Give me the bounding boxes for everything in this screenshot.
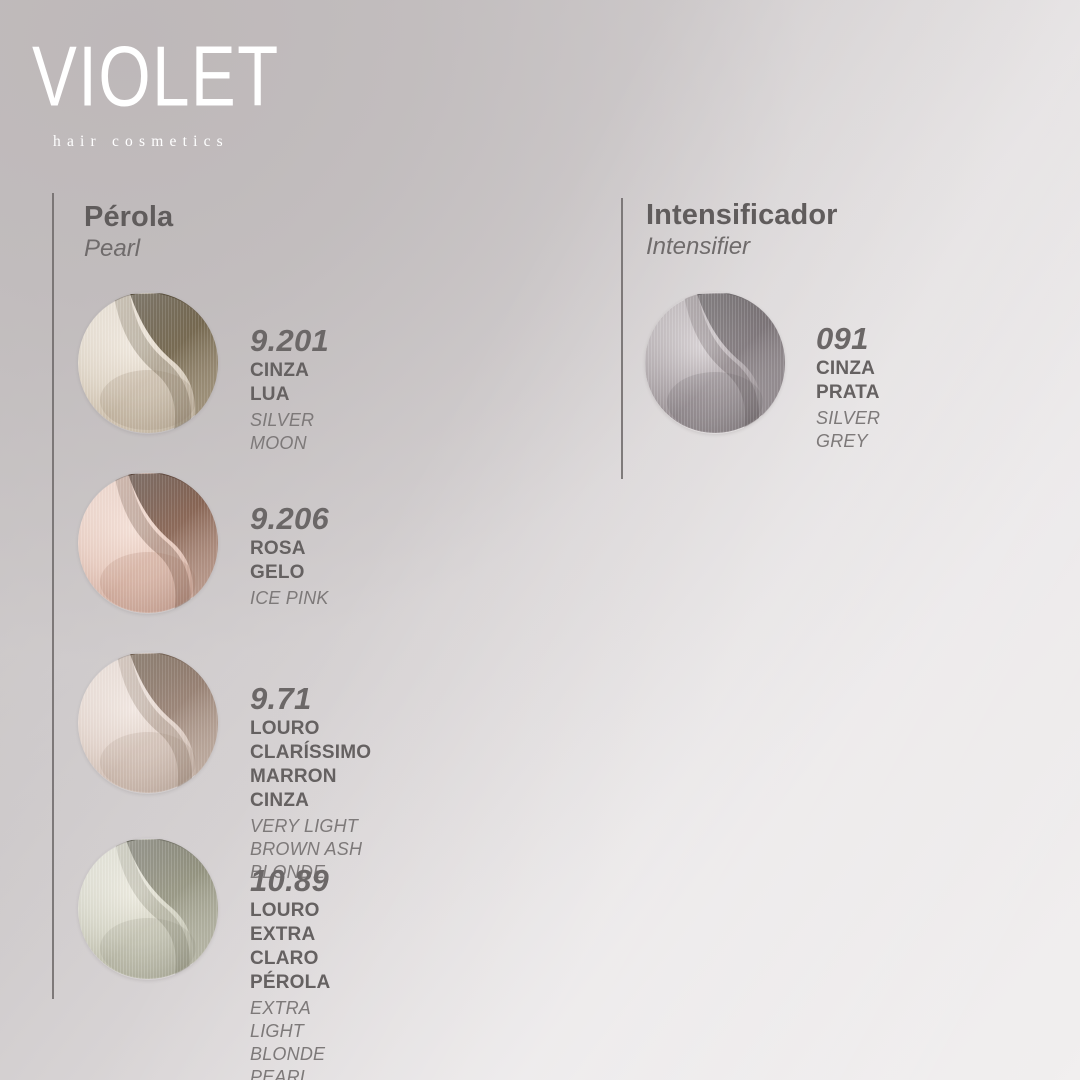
brand-logo: VIOLET hair cosmetics bbox=[32, 36, 290, 151]
section-title-en: Pearl bbox=[84, 234, 173, 264]
page-root: VIOLET hair cosmetics Pérola Pearl Inten… bbox=[0, 0, 1080, 1080]
shade-code: 9.71 bbox=[250, 682, 371, 716]
shade-name-pt: ROSA GELO bbox=[250, 537, 329, 585]
hair-swatch-icon bbox=[78, 292, 218, 434]
shade-name-pt: LOURO CLARÍSSIMO MARRON CINZA bbox=[250, 717, 371, 813]
column-divider-left bbox=[52, 193, 54, 999]
shade-code: 9.206 bbox=[250, 502, 329, 536]
shade-name-en: SILVER GREY bbox=[816, 407, 880, 453]
section-title-pt: Intensificador bbox=[646, 198, 838, 232]
shade-name-pt: LOURO EXTRA CLARO PÉROLA bbox=[250, 899, 330, 995]
shade-name-en: SILVER MOON bbox=[250, 409, 329, 455]
shade-name-pt: CINZA LUA bbox=[250, 359, 329, 407]
shade-name-en: EXTRA LIGHT BLONDE PEARL bbox=[250, 997, 330, 1080]
hair-swatch-icon bbox=[645, 292, 785, 434]
shade-code: 091 bbox=[816, 322, 880, 356]
hair-swatch-icon bbox=[78, 652, 218, 794]
shade-label-group: 9.201 CINZA LUA SILVER MOON bbox=[250, 324, 329, 455]
shade-code: 9.201 bbox=[250, 324, 329, 358]
section-title-pt: Pérola bbox=[84, 200, 173, 234]
hair-swatch-icon bbox=[78, 838, 218, 980]
brand-tagline: hair cosmetics bbox=[32, 133, 290, 151]
shade-name-en: ICE PINK bbox=[250, 587, 329, 610]
shade-label-group: 091 CINZA PRATA SILVER GREY bbox=[816, 322, 880, 453]
section-heading-intensificador: Intensificador Intensifier bbox=[646, 198, 838, 262]
section-heading-perola: Pérola Pearl bbox=[84, 200, 173, 264]
shade-name-pt: CINZA PRATA bbox=[816, 357, 880, 405]
hair-swatch-icon bbox=[78, 472, 218, 614]
section-title-en: Intensifier bbox=[646, 232, 838, 262]
shade-code: 10.89 bbox=[250, 864, 330, 898]
shade-label-group: 10.89 LOURO EXTRA CLARO PÉROLA EXTRA LIG… bbox=[250, 864, 330, 1080]
shade-label-group: 9.71 LOURO CLARÍSSIMO MARRON CINZA VERY … bbox=[250, 682, 371, 884]
shade-label-group: 9.206 ROSA GELO ICE PINK bbox=[250, 502, 329, 610]
column-divider-right bbox=[621, 198, 623, 479]
brand-name: VIOLET bbox=[32, 36, 280, 117]
